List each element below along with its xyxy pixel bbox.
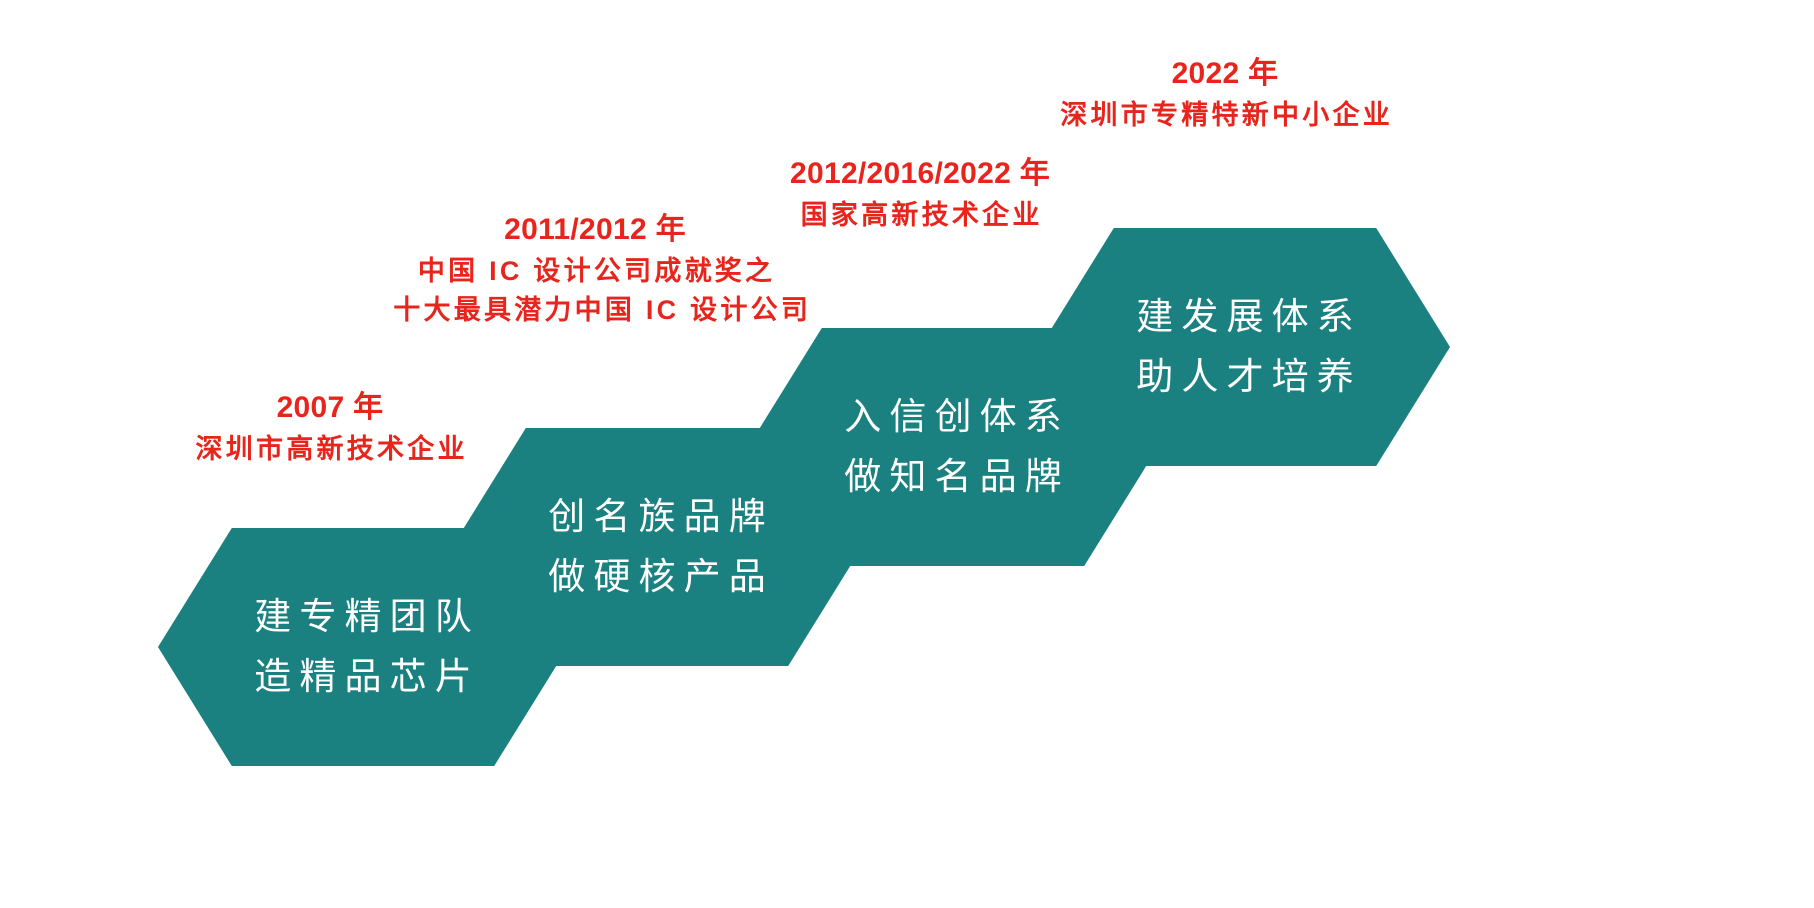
annotation-label-step-4: 2022 年 深圳市专精特新中小企业 xyxy=(1040,52,1410,135)
hexagon-step-4-line-2: 助人才培养 xyxy=(1128,347,1362,407)
hexagon-step-1-line-2: 造精品芯片 xyxy=(246,647,480,707)
hexagon-step-3-line-1: 入信创体系 xyxy=(836,387,1070,447)
hexagon-step-4-line-1: 建发展体系 xyxy=(1128,287,1362,347)
annotation-label-step-2: 2011/2012 年 中国 IC 设计公司成就奖之 十大最具潜力中国 IC 设… xyxy=(390,208,800,331)
diagram-canvas: 2007 年 深圳市高新技术企业 2011/2012 年 中国 IC 设计公司成… xyxy=(0,0,1814,908)
annotation-label-step-1: 2007 年 深圳市高新技术企业 xyxy=(160,386,500,469)
annotation-year-step-1: 2007 年 xyxy=(160,386,500,430)
hexagon-step-3-line-2: 做知名品牌 xyxy=(836,447,1070,507)
annotation-desc-step-3: 国家高新技术企业 xyxy=(770,196,1070,235)
hexagon-step-2-line-1: 创名族品牌 xyxy=(540,487,774,547)
annotation-year-step-3: 2012/2016/2022 年 xyxy=(770,152,1070,196)
annotation-label-step-3: 2012/2016/2022 年 国家高新技术企业 xyxy=(770,152,1070,235)
annotation-desc-step-2-line-1: 中国 IC 设计公司成就奖之 xyxy=(390,252,800,291)
hexagon-step-2-line-2: 做硬核产品 xyxy=(540,547,774,607)
annotation-desc-step-2-line-2: 十大最具潜力中国 IC 设计公司 xyxy=(390,291,800,330)
hexagon-step-1-line-1: 建专精团队 xyxy=(246,587,480,647)
annotation-desc-step-4: 深圳市专精特新中小企业 xyxy=(1040,96,1410,135)
annotation-year-step-4: 2022 年 xyxy=(1040,52,1410,96)
annotation-desc-step-1: 深圳市高新技术企业 xyxy=(160,430,500,469)
hexagon-step-4[interactable]: 建发展体系 助人才培养 xyxy=(1040,228,1450,466)
annotation-year-step-2: 2011/2012 年 xyxy=(390,208,800,252)
